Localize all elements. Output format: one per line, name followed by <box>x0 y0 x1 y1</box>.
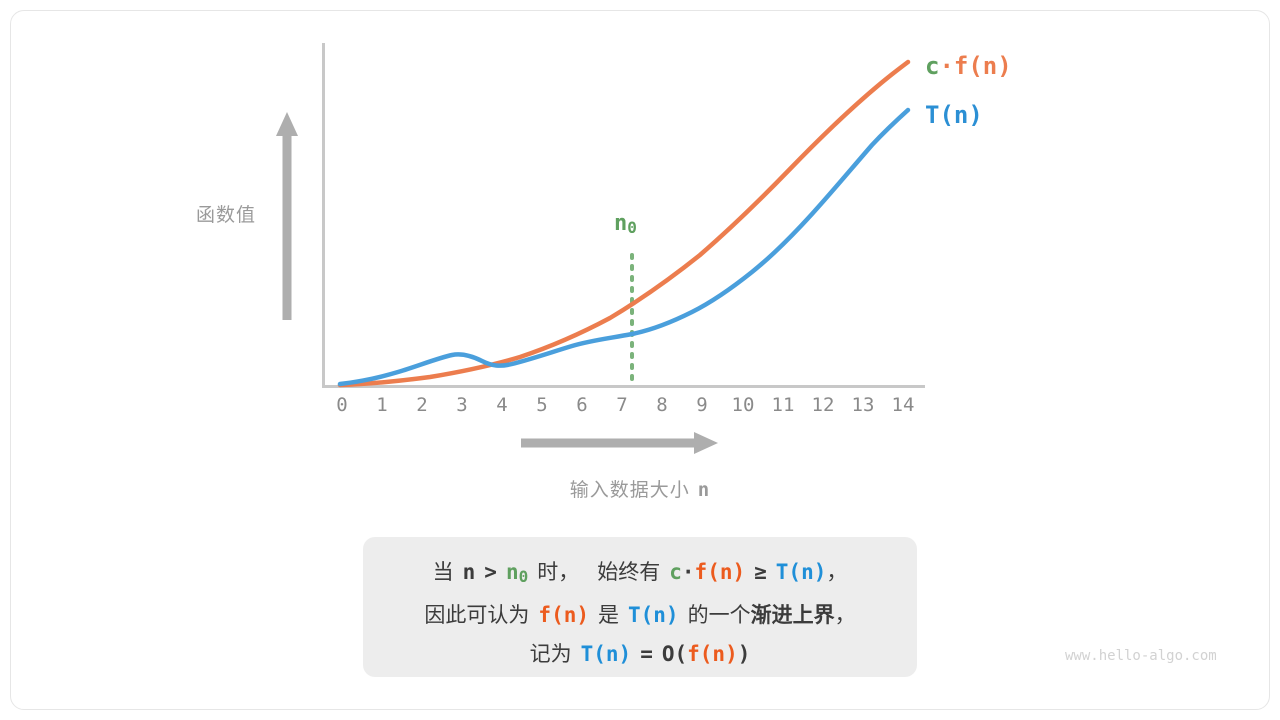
x-tick-8: 8 <box>642 394 682 416</box>
x-tick-1: 1 <box>362 394 402 416</box>
x-tick-3: 3 <box>442 394 482 416</box>
watermark: www.hello-algo.com <box>1065 648 1217 664</box>
x-tick-labels: 0 1 2 3 4 5 6 7 8 9 10 11 12 13 14 <box>323 394 927 422</box>
x-tick-10: 10 <box>723 394 763 416</box>
x-tick-6: 6 <box>562 394 602 416</box>
caption-l3-t1: 记为 <box>530 643 572 666</box>
caption-l3-fn: f(n) <box>687 642 738 666</box>
x-tick-9: 9 <box>682 394 722 416</box>
curve-label-c-f-n: c·f(n) <box>925 52 1012 80</box>
x-tick-14: 14 <box>883 394 923 416</box>
curve-t-n <box>340 110 908 384</box>
x-axis-label: 输入数据大小n <box>430 475 850 502</box>
caption-l1-n0-sub: 0 <box>519 567 529 586</box>
caption-l2-bold: 渐进上界 <box>751 604 835 627</box>
curve-label-t-n: T(n) <box>925 101 983 129</box>
x-tick-2: 2 <box>402 394 442 416</box>
caption-l3-tn: T(n) <box>581 642 632 666</box>
x-tick-12: 12 <box>803 394 843 416</box>
caption-l2-t2: 是 <box>598 604 619 627</box>
x-tick-4: 4 <box>482 394 522 416</box>
caption-box: 当n>n0时，始终有c·f(n)≥T(n)， 因此可认为f(n)是T(n)的一个… <box>363 537 917 677</box>
curve-label-constant: c <box>925 52 939 80</box>
caption-l1-t3: 始终有 <box>597 561 660 584</box>
n0-label-subscript: 0 <box>627 218 637 237</box>
curve-label-f-n: ·f(n) <box>939 52 1011 80</box>
x-tick-5: 5 <box>522 394 562 416</box>
x-tick-13: 13 <box>843 394 883 416</box>
caption-l3-close: ) <box>738 642 751 666</box>
caption-l2-t1: 因此可认为 <box>424 604 529 627</box>
caption-l1-n: n <box>463 560 476 584</box>
x-axis-label-text: 输入数据大小 <box>570 480 690 501</box>
caption-l2-fn: f(n) <box>538 603 589 627</box>
y-axis-label: 函数值 <box>176 200 276 227</box>
n0-label-base: n <box>614 211 627 236</box>
caption-l1-gt: > <box>484 560 497 584</box>
figure-root: 函数值 输入数据大小n 0 1 2 3 4 5 6 7 8 9 10 11 12… <box>0 0 1280 720</box>
caption-l1-t2: 时， <box>537 561 579 584</box>
y-axis-arrow-icon <box>276 112 298 320</box>
x-axis-label-variable: n <box>698 479 710 501</box>
caption-l1-fn: f(n) <box>695 560 746 584</box>
n0-label: n0 <box>614 211 637 237</box>
caption-l2-t3: 的一个 <box>688 604 751 627</box>
x-axis-arrow-icon <box>521 432 718 454</box>
caption-l1-ge: ≥ <box>754 560 767 584</box>
caption-line-1: 当n>n0时，始终有c·f(n)≥T(n)， <box>363 553 917 596</box>
caption-l3-eq: = <box>640 642 653 666</box>
caption-l1-n0-base: n <box>506 560 519 584</box>
caption-l2-comma: ， <box>835 604 856 627</box>
caption-l1-tn: T(n) <box>776 560 827 584</box>
x-tick-7: 7 <box>602 394 642 416</box>
caption-l1-dot: · <box>682 560 695 584</box>
caption-l1-t1: 当 <box>433 561 454 584</box>
caption-l2-tn: T(n) <box>628 603 679 627</box>
caption-l1-c: c <box>669 560 682 584</box>
caption-l3-big-o: O( <box>662 642 687 666</box>
caption-line-3: 记为T(n)=O(f(n)) <box>363 635 917 674</box>
x-tick-11: 11 <box>763 394 803 416</box>
x-tick-0: 0 <box>322 394 362 416</box>
caption-line-2: 因此可认为f(n)是T(n)的一个渐进上界， <box>363 596 917 635</box>
caption-l1-comma: ， <box>826 561 847 584</box>
